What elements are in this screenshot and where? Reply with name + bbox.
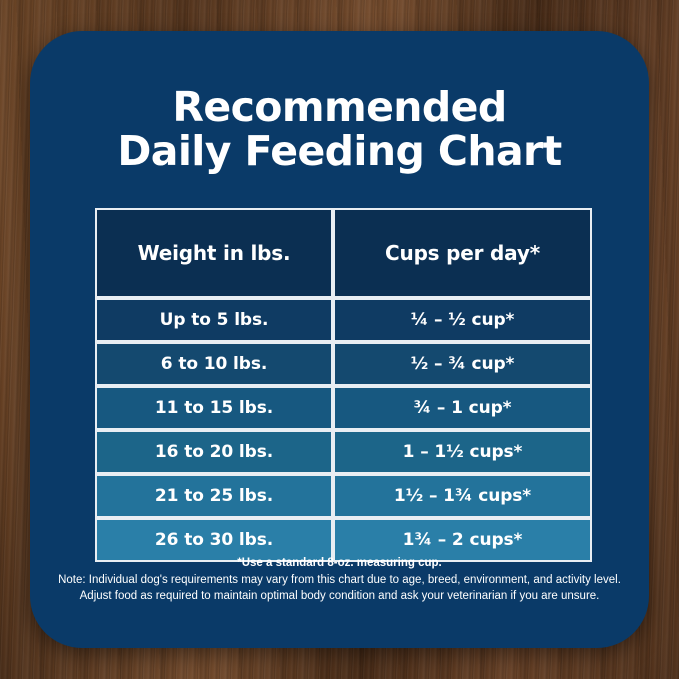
footnote-note-line-2: Adjust food as required to maintain opti…: [48, 588, 631, 605]
cell-cups: ¼ – ½ cup*: [333, 298, 592, 342]
feeding-table: Weight in lbs. Cups per day* Up to 5 lbs…: [95, 208, 592, 562]
title-line-2: Daily Feeding Chart: [30, 129, 649, 173]
table-row: Up to 5 lbs. ¼ – ½ cup*: [95, 298, 592, 342]
cell-cups: 1½ – 1¾ cups*: [333, 474, 592, 518]
column-header-cups: Cups per day*: [333, 208, 592, 298]
cell-weight: 11 to 15 lbs.: [95, 386, 333, 430]
column-header-weight: Weight in lbs.: [95, 208, 333, 298]
table-row: 6 to 10 lbs. ½ – ¾ cup*: [95, 342, 592, 386]
table-row: 21 to 25 lbs. 1½ – 1¾ cups*: [95, 474, 592, 518]
cell-weight: 21 to 25 lbs.: [95, 474, 333, 518]
footnote-note-line-1: Note: Individual dog's requirements may …: [48, 572, 631, 589]
feeding-chart-card: Recommended Daily Feeding Chart Weight i…: [30, 31, 649, 648]
table-header: Weight in lbs. Cups per day*: [95, 208, 592, 298]
cell-cups: ½ – ¾ cup*: [333, 342, 592, 386]
table-header-row: Weight in lbs. Cups per day*: [95, 208, 592, 298]
footnote: *Use a standard 8-oz. measuring cup. Not…: [48, 555, 631, 605]
table-row: 16 to 20 lbs. 1 – 1½ cups*: [95, 430, 592, 474]
cell-cups: 1 – 1½ cups*: [333, 430, 592, 474]
cell-cups: ¾ – 1 cup*: [333, 386, 592, 430]
table-body: Up to 5 lbs. ¼ – ½ cup* 6 to 10 lbs. ½ –…: [95, 298, 592, 562]
table-row: 11 to 15 lbs. ¾ – 1 cup*: [95, 386, 592, 430]
title-line-1: Recommended: [30, 85, 649, 129]
page-title: Recommended Daily Feeding Chart: [30, 85, 649, 174]
cell-weight: 16 to 20 lbs.: [95, 430, 333, 474]
cell-weight: 6 to 10 lbs.: [95, 342, 333, 386]
footnote-measuring-cup: *Use a standard 8-oz. measuring cup.: [48, 555, 631, 572]
cell-weight: Up to 5 lbs.: [95, 298, 333, 342]
